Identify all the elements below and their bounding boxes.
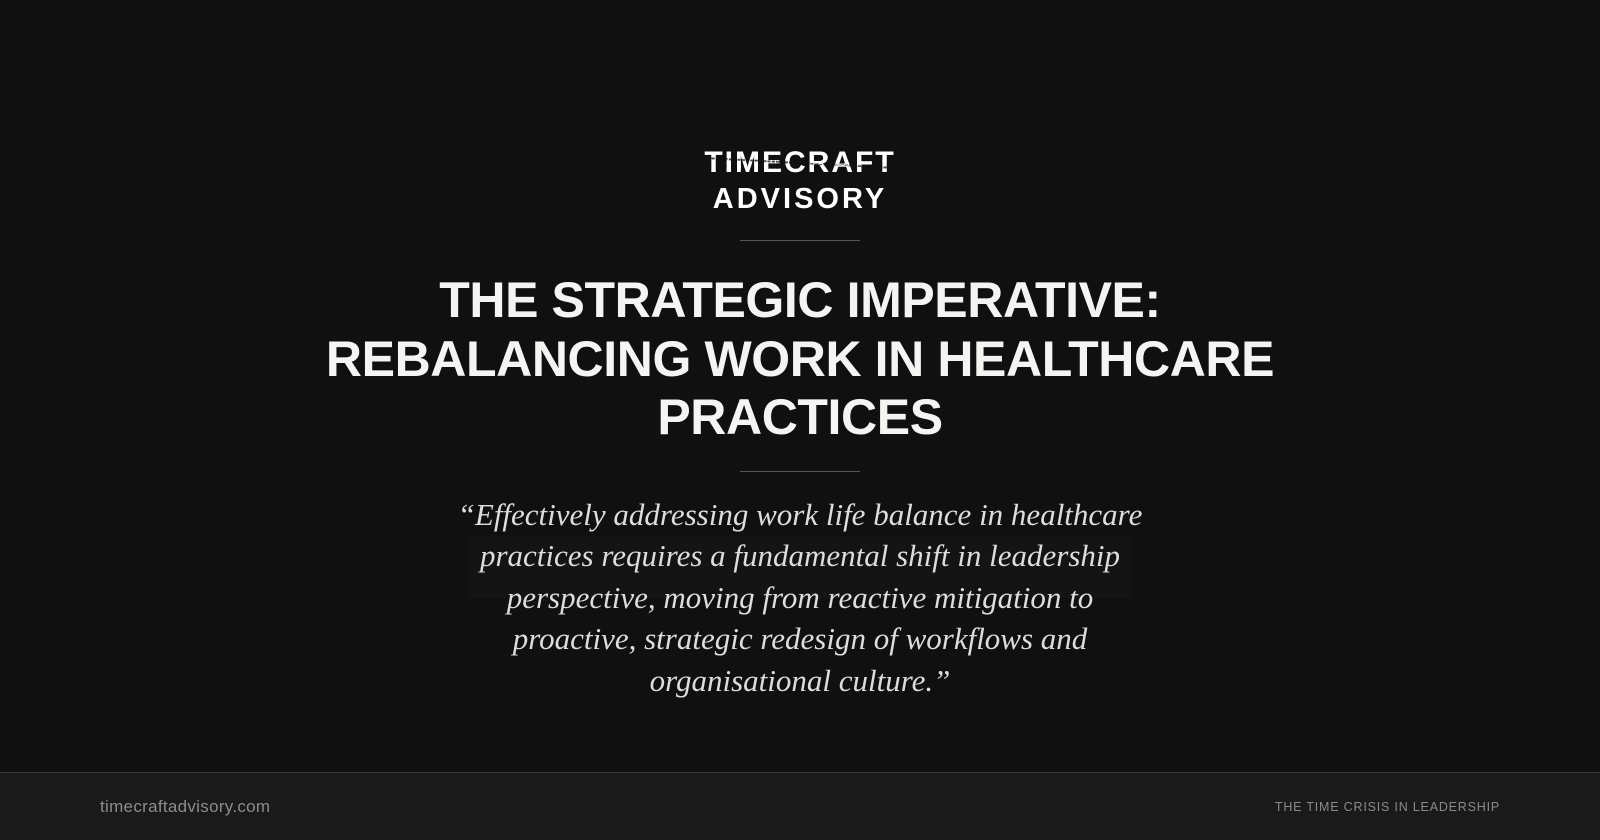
footer-deck-title: THE TIME CRISIS IN LEADERSHIP [1275, 800, 1500, 814]
brand-logo: TIMECRAFT TIMECRAFT ADVISORY [704, 148, 895, 214]
page-title: The Strategic Imperative: Rebalancing Wo… [300, 271, 1300, 447]
slide-footer: timecraftadvisory.com THE TIME CRISIS IN… [0, 772, 1600, 840]
logo-timecraft-wordmark: TIMECRAFT TIMECRAFT [704, 148, 895, 178]
presentation-slide: TIMECRAFT TIMECRAFT ADVISORY The Strateg… [0, 0, 1600, 840]
divider-under-logo [740, 240, 860, 241]
footer-website-link[interactable]: timecraftadvisory.com [100, 797, 270, 817]
logo-advisory-text: ADVISORY [713, 185, 887, 214]
pull-quote: “Effectively addressing work life balanc… [450, 494, 1150, 702]
divider-under-title [740, 471, 860, 472]
quote-block: “Effectively addressing work life balanc… [450, 494, 1150, 702]
slide-content-stage: TIMECRAFT TIMECRAFT ADVISORY The Strateg… [0, 0, 1600, 788]
logo-timecraft-text: TIMECRAFT [704, 148, 895, 178]
